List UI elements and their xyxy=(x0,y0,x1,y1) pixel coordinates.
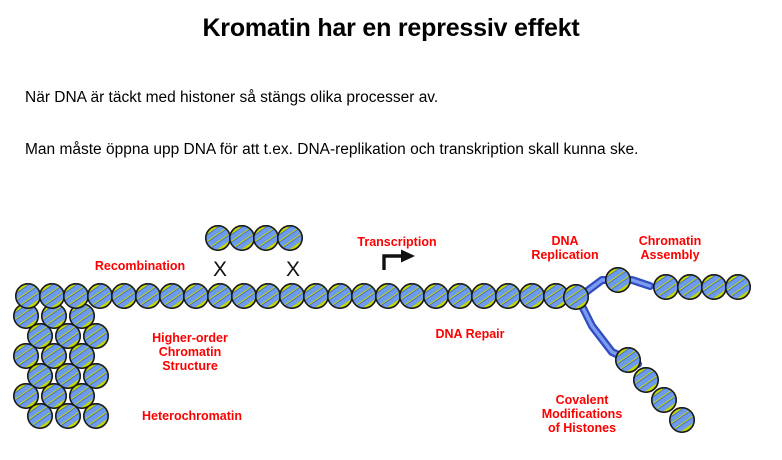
label-covalent-line3: of Histones xyxy=(548,421,616,435)
covalent-modification-arm xyxy=(611,344,698,435)
recombination-fragment xyxy=(201,222,306,253)
label-recombination: Recombination xyxy=(95,259,185,273)
chromatin-diagram: X X Recombination Transcription DNA Repl… xyxy=(0,208,782,460)
page-title: Kromatin har en repressiv effekt xyxy=(0,14,782,43)
main-chromatin-fiber xyxy=(11,280,592,312)
replication-fork-linkers xyxy=(578,280,650,364)
transcription-arrow-icon xyxy=(384,250,415,271)
body-line-1: När DNA är täckt med histoner så stängs … xyxy=(25,89,438,107)
label-transcription: Transcription xyxy=(357,235,436,249)
label-covalent-line1: Covalent xyxy=(556,393,610,407)
chromatin-diagram-svg: X X Recombination Transcription DNA Repl… xyxy=(0,208,782,460)
label-higher-order-line1: Higher-order xyxy=(152,331,228,345)
label-covalent-line2: Modifications xyxy=(542,407,623,421)
heterochromatin-cluster xyxy=(9,300,112,431)
label-higher-order-line2: Chromatin xyxy=(159,345,222,359)
label-higher-order-line3: Structure xyxy=(162,359,218,373)
label-dna-repair: DNA Repair xyxy=(436,327,505,341)
label-dna-replication-line1: DNA xyxy=(551,234,578,248)
slide-canvas: Kromatin har en repressiv effekt När DNA… xyxy=(0,0,782,460)
x-mark-left: X xyxy=(213,258,227,281)
label-chromatin-assembly-line2: Assembly xyxy=(640,248,699,262)
label-heterochromatin: Heterochromatin xyxy=(142,409,242,423)
label-dna-replication-line2: Replication xyxy=(531,248,598,262)
body-line-2: Man måste öppna upp DNA för att t.ex. DN… xyxy=(25,141,638,159)
x-mark-right: X xyxy=(286,258,300,281)
label-chromatin-assembly-line1: Chromatin xyxy=(639,234,702,248)
chromatin-assembly-arm xyxy=(601,264,754,302)
